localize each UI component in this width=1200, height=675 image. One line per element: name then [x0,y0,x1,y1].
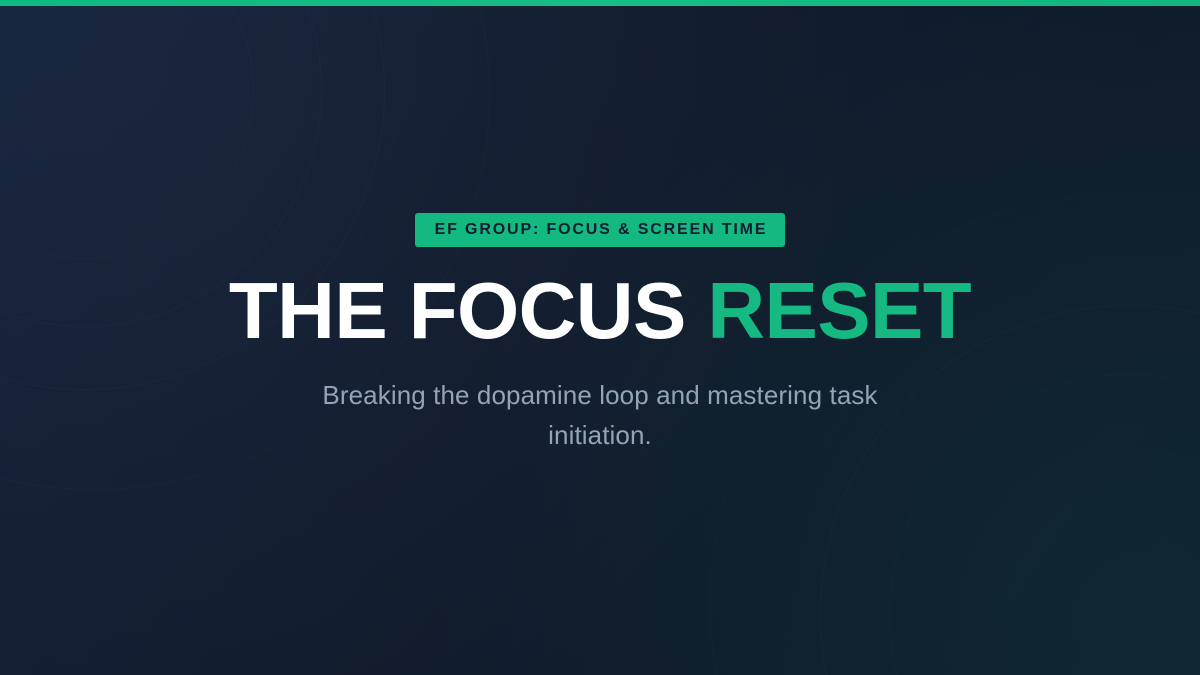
title-accent-text: RESET [707,266,971,355]
title-primary-text: THE FOCUS [229,266,686,355]
kicker-badge: EF GROUP: FOCUS & SCREEN TIME [415,213,786,247]
top-accent-bar [0,0,1200,6]
subtitle: Breaking the dopamine loop and mastering… [305,375,895,455]
slide-content: EF GROUP: FOCUS & SCREEN TIME THE FOCUS … [0,0,1200,675]
title-slide: EF GROUP: FOCUS & SCREEN TIME THE FOCUS … [0,0,1200,675]
page-title: THE FOCUS RESET [229,271,971,351]
